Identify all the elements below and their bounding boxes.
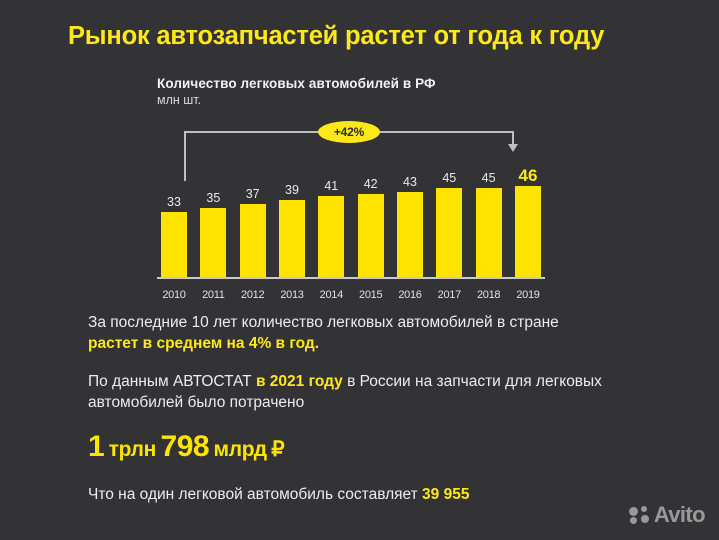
x-axis-tick-label: 2012 xyxy=(240,289,266,301)
bar-column: 35 xyxy=(200,157,226,277)
paragraph-growth: За последние 10 лет количество легковых … xyxy=(88,312,658,354)
avito-watermark: Avito xyxy=(629,502,705,528)
page-title: Рынок автозапчастей растет от года к год… xyxy=(68,22,678,51)
x-axis-tick-label: 2011 xyxy=(200,289,226,301)
x-axis-tick-label: 2017 xyxy=(436,289,462,301)
bar-rect xyxy=(318,196,344,277)
bar-chart: +42% 33353739414243454546 20102011201220… xyxy=(161,125,541,305)
paragraph-autostat-year: в 2021 году xyxy=(256,373,343,390)
total-spend-trillions-unit: трлн xyxy=(109,438,156,461)
bar-rect xyxy=(397,192,423,277)
bar-column: 46 xyxy=(515,157,541,277)
x-axis-tick-label: 2010 xyxy=(161,289,187,301)
bar-value-label: 42 xyxy=(364,178,378,191)
paragraph-growth-text: За последние 10 лет количество легковых … xyxy=(88,314,559,331)
bar-rect xyxy=(476,188,502,277)
bar-rect xyxy=(161,212,187,277)
bar-value-label: 33 xyxy=(167,196,181,209)
bar-column: 42 xyxy=(358,157,384,277)
total-spend-figure: 1 трлн 798 млрд ₽ xyxy=(88,430,658,464)
bar-rect xyxy=(200,208,226,277)
paragraph-autostat-pre: По данным АВТОСТАТ xyxy=(88,373,256,390)
paragraph-autostat: По данным АВТОСТАТ в 2021 году в России … xyxy=(88,371,658,413)
chart-block: Количество легковых автомобилей в РФ млн… xyxy=(157,76,557,305)
bar-column: 45 xyxy=(436,157,462,277)
bar-column: 37 xyxy=(240,157,266,277)
total-spend-billions: 798 xyxy=(161,430,210,463)
paragraph-per-car-value: 39 955 xyxy=(422,486,469,503)
bar-rect xyxy=(240,204,266,277)
bar-value-label: 37 xyxy=(246,188,260,201)
x-axis-tick-label: 2018 xyxy=(476,289,502,301)
avito-wordmark: Avito xyxy=(654,502,705,528)
bar-column: 43 xyxy=(397,157,423,277)
bar-rect xyxy=(515,186,541,277)
x-axis-line xyxy=(157,277,545,279)
body-copy: За последние 10 лет количество легковых … xyxy=(88,312,658,505)
bar-rect xyxy=(436,188,462,277)
chart-title: Количество легковых автомобилей в РФ xyxy=(157,76,557,91)
annotation-right-stem xyxy=(512,131,514,145)
x-axis-tick-label: 2014 xyxy=(318,289,344,301)
total-spend-billions-unit: млрд xyxy=(214,438,267,461)
x-axis-labels: 2010201120122013201420152016201720182019 xyxy=(161,289,541,301)
bar-rect xyxy=(358,194,384,277)
chart-subtitle: млн шт. xyxy=(157,93,557,107)
bar-column: 39 xyxy=(279,157,305,277)
bar-column: 45 xyxy=(476,157,502,277)
slide-canvas: Рынок автозапчастей растет от года к год… xyxy=(0,0,719,540)
currency-symbol: ₽ xyxy=(271,438,284,461)
bar-series: 33353739414243454546 xyxy=(161,157,541,277)
bar-rect xyxy=(279,200,305,277)
bar-value-label: 45 xyxy=(482,172,496,185)
bar-value-label: 43 xyxy=(403,176,417,189)
x-axis-tick-label: 2015 xyxy=(358,289,384,301)
growth-badge: +42% xyxy=(318,121,380,143)
x-axis-tick-label: 2016 xyxy=(397,289,423,301)
paragraph-per-car: Что на один легковой автомобиль составля… xyxy=(88,484,658,505)
arrow-down-icon xyxy=(508,144,518,152)
paragraph-growth-accent: растет в среднем на 4% в год. xyxy=(88,335,319,352)
bar-value-label: 35 xyxy=(206,192,220,205)
bar-column: 41 xyxy=(318,157,344,277)
bar-column: 33 xyxy=(161,157,187,277)
bar-value-label: 39 xyxy=(285,184,299,197)
x-axis-tick-label: 2013 xyxy=(279,289,305,301)
bar-value-label: 45 xyxy=(442,172,456,185)
paragraph-per-car-pre: Что на один легковой автомобиль составля… xyxy=(88,486,422,503)
bar-value-label: 46 xyxy=(518,167,537,184)
total-spend-trillions: 1 xyxy=(88,430,104,463)
x-axis-tick-label: 2019 xyxy=(515,289,541,301)
bar-value-label: 41 xyxy=(324,180,338,193)
annotation-horizontal-line xyxy=(184,131,514,133)
avito-dots-icon xyxy=(629,506,650,525)
